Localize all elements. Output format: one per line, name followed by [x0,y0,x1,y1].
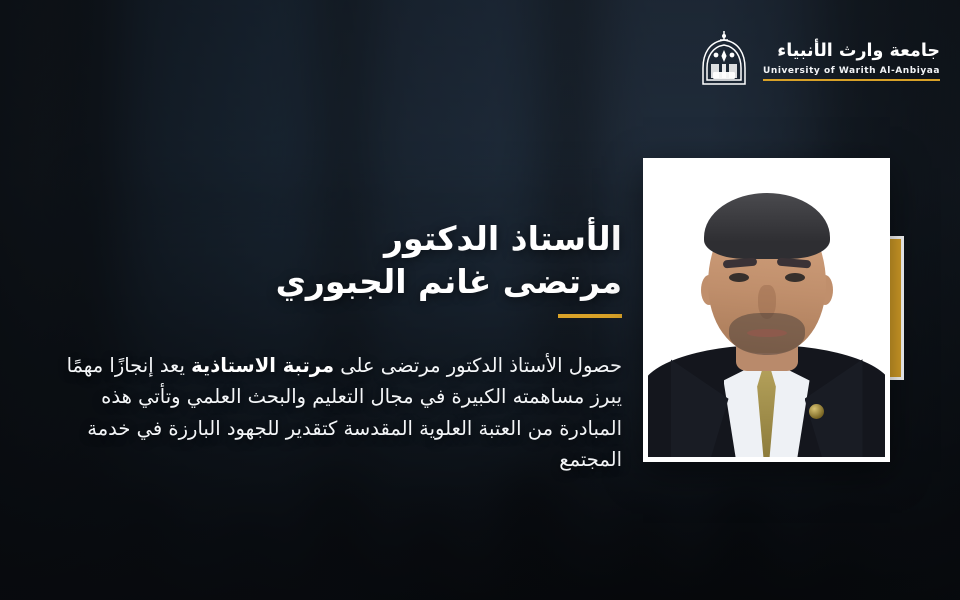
portrait-hair [704,193,830,259]
announcement-poster: جامعة وارث الأنبياء University of Warith… [0,0,960,600]
university-name-arabic: جامعة وارث الأنبياء [763,41,940,63]
portrait-photo [648,163,885,457]
logo-gold-rule [763,79,940,81]
body-text-emphasis: مرتبة الاستاذية [191,354,334,377]
body-text-before-bold: حصول الأستاذ الدكتور مرتضى على [334,354,622,377]
headline-block: الأستاذ الدكتور مرتضى غانم الجبوري [338,218,622,318]
headline-line-2: مرتضى غانم الجبوري [338,261,622,304]
portrait-frame [643,158,890,462]
portrait-lapel-pin [809,404,824,419]
university-crest-icon [697,28,751,94]
portrait-mouth [747,329,787,337]
portrait-eye [785,273,805,282]
headline-gold-underline [558,314,622,318]
announcement-body-text: حصول الأستاذ الدكتور مرتضى على مرتبة الا… [36,350,622,476]
headline-line-1: الأستاذ الدكتور [338,218,622,261]
university-name-english: University of Warith Al-Anbiyaa [763,66,940,76]
university-logo: جامعة وارث الأنبياء University of Warith… [697,28,940,94]
university-logo-text: جامعة وارث الأنبياء University of Warith… [763,41,940,81]
portrait-eye [729,273,749,282]
